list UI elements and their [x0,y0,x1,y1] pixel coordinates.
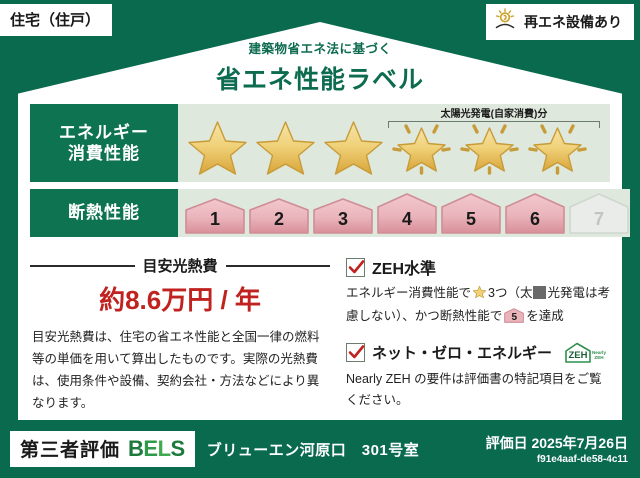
insulation-badge-value: 2 [274,209,284,235]
net-zero-energy-header: ネット・ゼロ・エネルギー ZEH Nearly ZEH [346,341,610,365]
svg-text:ZEH: ZEH [594,355,604,360]
title-main: 省エネ性能ラベル [0,60,640,96]
renewable-equipment-text: 再エネ設備あり [524,12,622,32]
net-zero-energy-title: ネット・ゼロ・エネルギー [372,342,552,363]
utility-cost-heading: 目安光熱費 [30,255,330,276]
zeh-column: ZEH水準 エネルギー消費性能で3つ（太光発電は考慮しない）、かつ断熱性能で5を… [330,255,610,424]
label-title-block: 建築物省エネ法に基づく 省エネ性能ラベル [0,38,640,96]
insulation-label-text: 断熱性能 [68,202,140,223]
energy-performance-label: 住宅（住戸） 再エネ設備あり 建築物省エネ法に基づく 省エネ性能ラベル [0,0,640,478]
insulation-badge-value: 1 [210,209,220,235]
bels-logo: BELS [128,436,185,462]
svg-text:ZEH: ZEH [569,350,588,361]
renewable-equipment-tag: 再エネ設備あり [486,4,634,40]
zeh-desc-part-b: 3つ（太 [488,286,532,300]
solar-generation-bracket: 太陽光発電(自家消費)分 [388,105,600,128]
energy-performance-value: 太陽光発電(自家消費)分 [178,104,610,182]
heading-rule-right [226,265,331,267]
insulation-badge: 5 [440,192,502,235]
insulation-badge-value: 3 [338,209,348,235]
insulation-badge-inactive: 7 [568,192,630,235]
zeh-standard-description: エネルギー消費性能で3つ（太光発電は考慮しない）、かつ断熱性能で5を達成 [346,283,610,328]
details-section: 目安光熱費 約8.6万円 / 年 目安光熱費は、住宅の省エネ性能と全国一律の燃料… [30,255,610,424]
utility-cost-note: 目安光熱費は、住宅の省エネ性能と全国一律の燃料等の単価を用いて算出したものです。… [30,327,330,415]
insulation-performance-row: 断熱性能 1 [30,189,610,237]
sun-solar-icon [494,8,518,35]
star-icon-plain [252,116,319,176]
insulation-performance-value: 1 2 3 [178,189,630,237]
evaluation-date: 評価日 2025年7月26日 [486,433,628,453]
property-name: ブリューエン河原口 301号室 [207,439,420,460]
net-zero-energy-item: ネット・ゼロ・エネルギー ZEH Nearly ZEH Nearly ZEH の… [346,341,610,412]
evaluation-meta: 評価日 2025年7月26日 f91e4aaf-de58-4c11 [486,433,628,465]
insulation-badge: 4 [376,192,438,235]
zeh-standard-title: ZEH水準 [372,255,436,279]
insulation-badge-row: 1 2 3 [178,192,630,235]
label-footer: 第三者評価 BELS ブリューエン河原口 301号室 評価日 2025年7月26… [0,420,640,478]
insulation-performance-label: 断熱性能 [30,189,178,237]
bels-letter-b: B [128,436,143,461]
utility-cost-value: 約8.6万円 / 年 [30,280,330,317]
insulation-badge-value: 6 [530,209,540,235]
residence-type-text: 住宅（住戸） [10,12,100,29]
energy-performance-row: エネルギー 消費性能 [30,104,610,182]
checkbox-checked-icon [346,343,365,362]
insulation-badge-inline-value: 5 [504,309,524,326]
bels-certification-box: 第三者評価 BELS [10,431,195,467]
bels-letter-l: L [158,436,171,461]
zeh-desc-part-d: を達成 [526,309,564,323]
redacted-character [533,286,546,299]
insulation-badge-value: 5 [466,209,476,235]
zeh-standard-item: ZEH水準 エネルギー消費性能で3つ（太光発電は考慮しない）、かつ断熱性能で5を… [346,255,610,328]
energy-performance-label: エネルギー 消費性能 [30,104,178,182]
zeh-desc-part-a: エネルギー消費性能で [346,286,471,300]
solar-generation-caption: 太陽光発電(自家消費)分 [388,105,600,120]
residence-type-tag: 住宅（住戸） [0,4,112,36]
zeh-logo-icon: ZEH Nearly ZEH [563,341,607,365]
evaluation-id: f91e4aaf-de58-4c11 [486,454,628,465]
title-subtitle: 建築物省エネ法に基づく [0,38,640,57]
star-icon-plain [184,116,251,176]
insulation-badge-value: 4 [402,209,412,235]
net-zero-energy-description: Nearly ZEH の要件は評価書の特記項目をご覧ください。 [346,369,610,412]
insulation-badge-value: 7 [594,209,604,235]
bels-letter-e: E [143,436,157,461]
energy-label-line2: 消費性能 [68,143,140,164]
checkbox-checked-icon [346,258,365,277]
insulation-badge: 2 [248,197,310,235]
insulation-badge: 3 [312,197,374,235]
heading-rule-left [30,265,135,267]
star-icon-plain [320,116,387,176]
star-icon-inline [472,288,487,302]
utility-cost-column: 目安光熱費 約8.6万円 / 年 目安光熱費は、住宅の省エネ性能と全国一律の燃料… [30,255,330,424]
bracket-line [388,121,600,128]
bels-letter-s: S [171,436,185,461]
insulation-badge: 6 [504,192,566,235]
performance-section: エネルギー 消費性能 [30,104,610,237]
insulation-badge: 1 [184,197,246,235]
insulation-badge-inline: 5 [504,308,524,323]
energy-label-line1: エネルギー [59,122,149,143]
third-party-evaluation-label: 第三者評価 [20,435,120,462]
utility-cost-heading-text: 目安光熱費 [143,255,218,276]
zeh-standard-header: ZEH水準 [346,255,610,279]
